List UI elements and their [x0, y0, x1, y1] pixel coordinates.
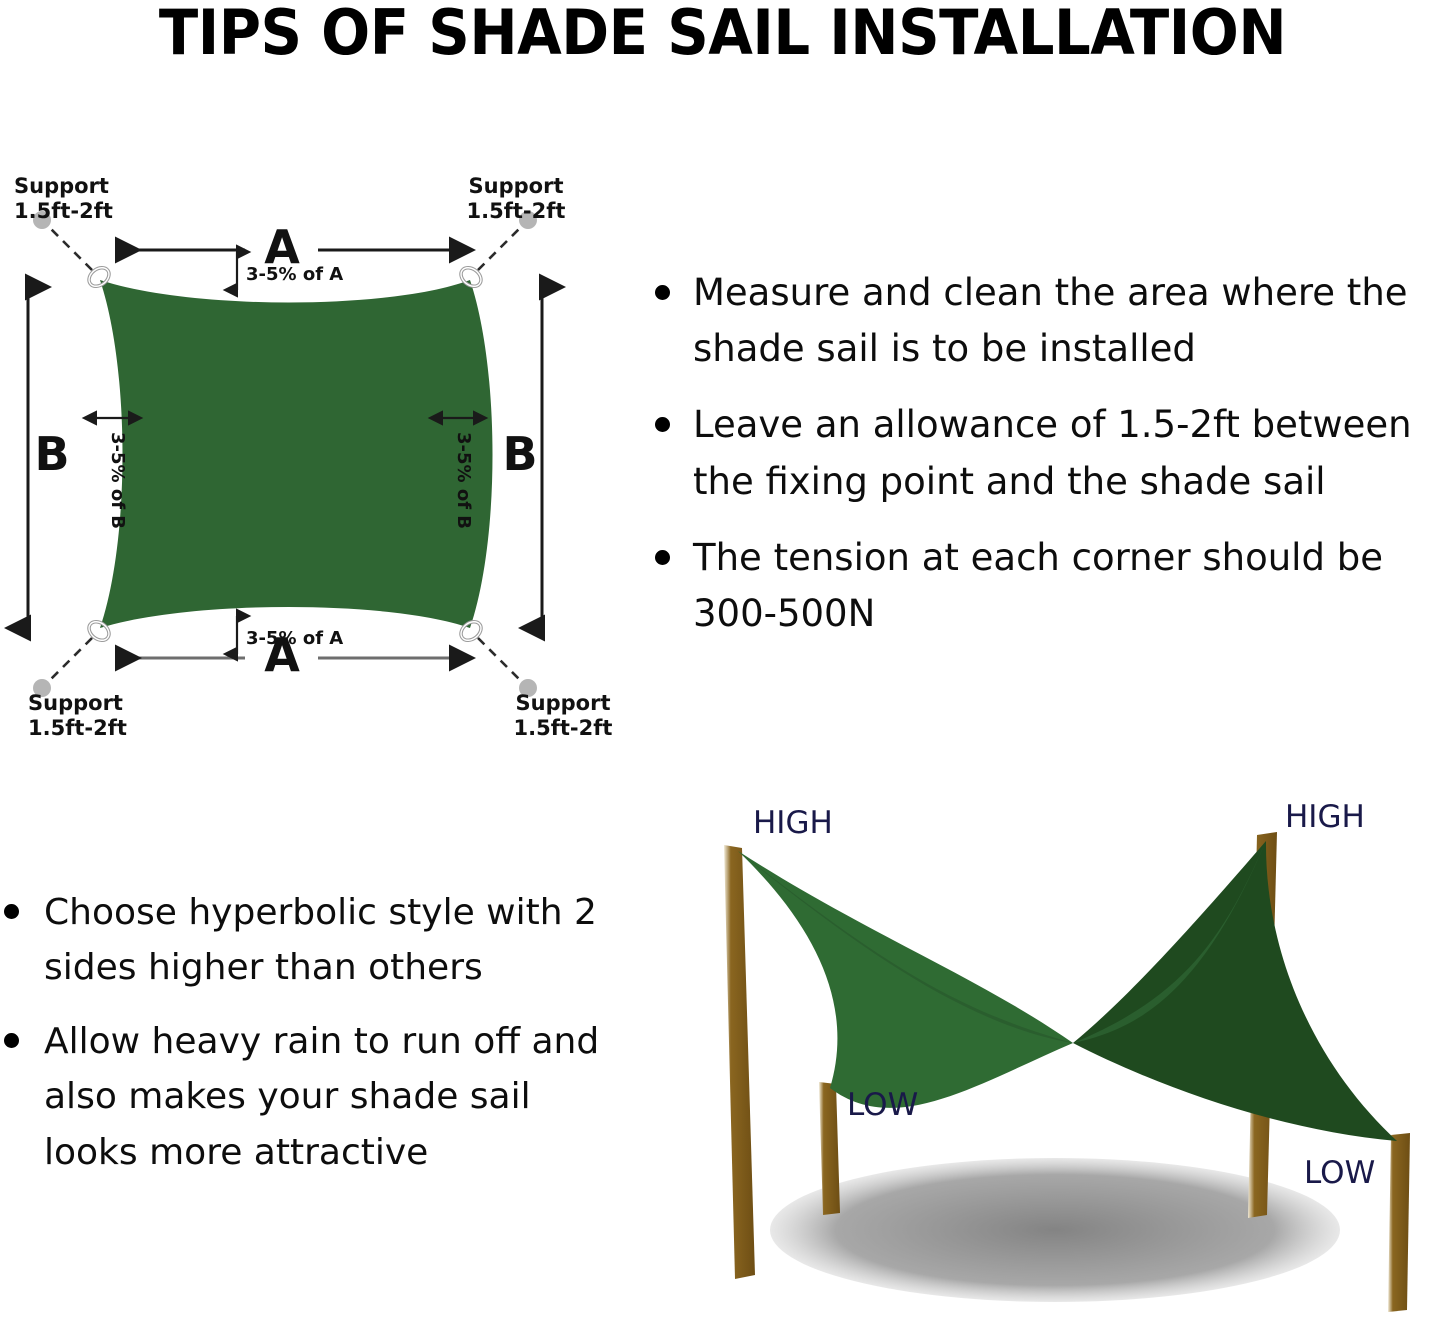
post-front-right: [1388, 1133, 1410, 1312]
tip-text: Leave an allowance of 1.5-2ft between th…: [693, 403, 1412, 502]
svg-text:1.5ft-2ft: 1.5ft-2ft: [467, 199, 566, 223]
dimension-label-B-right: B: [502, 427, 537, 481]
support-line-bottom-right: [478, 638, 522, 682]
list-item: Leave an allowance of 1.5-2ft between th…: [645, 397, 1445, 509]
curve-label-left: 3-5% of B: [107, 432, 128, 529]
svg-text:Support: Support: [469, 174, 564, 198]
post-back-left: [724, 845, 755, 1279]
hyperbolic-tips-panel: Choose hyperbolic style with 2 sides hig…: [0, 885, 620, 1198]
list-item: Measure and clean the area where the sha…: [645, 265, 1445, 377]
dimension-label-B-left: B: [34, 427, 69, 481]
page-title: TIPS OF SHADE SAIL INSTALLATION: [51, 0, 1395, 69]
post-label-low-left: LOW: [847, 1087, 918, 1123]
curve-label-top: 3-5% of A: [246, 264, 343, 285]
curve-label-bottom: 3-5% of A: [246, 628, 343, 649]
support-line-bottom-left: [48, 638, 92, 682]
support-line-top-right: [478, 226, 522, 270]
support-label-bottom-right: Support 1.5ft-2ft: [514, 691, 613, 740]
tip-text: Measure and clean the area where the sha…: [693, 271, 1408, 370]
svg-text:Support: Support: [14, 174, 109, 198]
list-item: Choose hyperbolic style with 2 sides hig…: [0, 885, 620, 996]
svg-text:Support: Support: [516, 691, 611, 715]
installation-tips-list: Measure and clean the area where the sha…: [645, 265, 1445, 642]
support-line-top-left: [48, 226, 92, 270]
rectangular-sail-diagram: A A B B 3-5% of A 3-5% of A 3-5% of B 3-…: [0, 150, 660, 750]
support-label-top-left: Support 1.5ft-2ft: [14, 174, 113, 223]
sail-lobe-right: [1073, 841, 1397, 1141]
svg-text:Support: Support: [28, 691, 123, 715]
post-label-low-right: LOW: [1304, 1155, 1375, 1191]
svg-text:1.5ft-2ft: 1.5ft-2ft: [514, 716, 613, 740]
tip-text: The tension at each corner should be 300…: [693, 536, 1383, 635]
svg-text:1.5ft-2ft: 1.5ft-2ft: [28, 716, 127, 740]
bullet-dot-icon: [655, 285, 670, 300]
svg-text:1.5ft-2ft: 1.5ft-2ft: [14, 199, 113, 223]
post-label-high-left: HIGH: [753, 805, 833, 841]
tip-text: Choose hyperbolic style with 2 sides hig…: [44, 892, 597, 988]
bullet-dot-icon: [655, 417, 670, 432]
support-label-top-right: Support 1.5ft-2ft: [467, 174, 566, 223]
list-item: The tension at each corner should be 300…: [645, 530, 1445, 642]
post-label-high-right: HIGH: [1285, 799, 1365, 835]
installation-tips-panel: Measure and clean the area where the sha…: [645, 265, 1445, 642]
bullet-dot-icon: [655, 550, 670, 565]
shade-sail-shape: [100, 280, 493, 628]
bullet-dot-icon: [4, 1033, 19, 1048]
support-label-bottom-left: Support 1.5ft-2ft: [28, 691, 127, 740]
tip-text: Allow heavy rain to run off and also mak…: [44, 1021, 599, 1173]
curve-label-right: 3-5% of B: [453, 432, 474, 529]
bullet-dot-icon: [4, 904, 19, 919]
hyperbolic-sail-diagram: HIGH HIGH LOW LOW: [625, 785, 1445, 1319]
hyperbolic-tips-list: Choose hyperbolic style with 2 sides hig…: [0, 885, 620, 1180]
list-item: Allow heavy rain to run off and also mak…: [0, 1014, 620, 1180]
